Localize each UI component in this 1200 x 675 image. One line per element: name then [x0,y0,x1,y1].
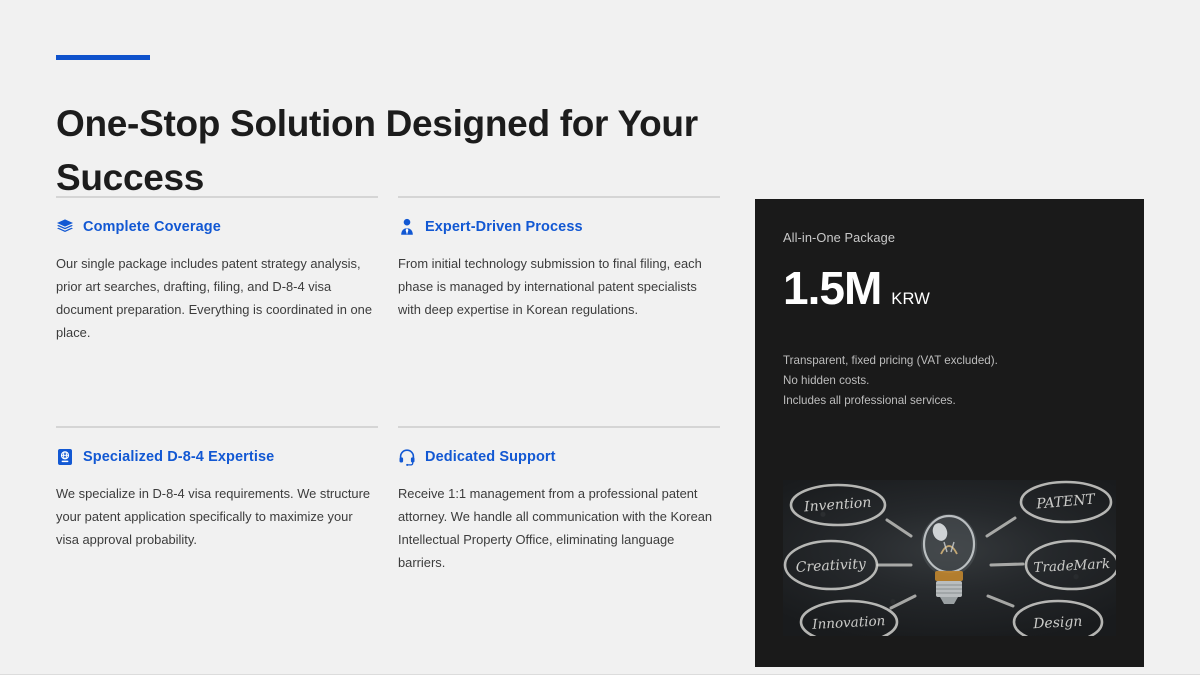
feature-description: From initial technology submission to fi… [398,252,720,321]
feature-card-dedicated-support: Dedicated Support Receive 1:1 management… [398,426,720,586]
lightbulb-graphic [921,514,977,604]
chalk-word-patent: PATENT [1035,491,1097,512]
feature-title: Expert-Driven Process [425,219,583,235]
feature-header: Complete Coverage [56,217,378,237]
price-note: Transparent, fixed pricing (VAT excluded… [783,351,1113,371]
feature-header: Expert-Driven Process [398,217,720,237]
chalk-word-creativity: Creativity [795,556,867,576]
price-currency: KRW [891,290,930,309]
price-note: Includes all professional services. [783,391,1113,411]
price-note: No hidden costs. [783,371,1113,391]
slide-canvas: One-Stop Solution Designed for Your Succ… [0,0,1200,675]
feature-grid: Complete Coverage Our single package inc… [56,196,720,586]
feature-title: Specialized D-8-4 Expertise [83,449,274,465]
pricing-panel: All-in-One Package 1.5M KRW Transparent,… [755,199,1144,667]
passport-icon [56,448,74,466]
chalk-word-trademark: TradeMark [1033,556,1110,576]
chalk-word-design: Design [1032,614,1083,633]
layers-icon [56,218,74,236]
feature-header: Specialized D-8-4 Expertise [56,447,378,467]
price-row: 1.5M KRW [783,265,930,311]
price-amount: 1.5M [783,265,881,311]
feature-title: Dedicated Support [425,449,556,465]
package-label: All-in-One Package [783,230,895,245]
user-tie-icon [398,218,416,236]
accent-bar [56,55,150,60]
feature-description: We specialize in D-8-4 visa requirements… [56,482,378,551]
feature-card-expert-driven-process: Expert-Driven Process From initial techn… [398,196,720,426]
headset-icon [398,448,416,466]
feature-description: Receive 1:1 management from a profession… [398,482,720,574]
feature-header: Dedicated Support [398,447,720,467]
feature-title: Complete Coverage [83,219,221,235]
chalk-word-invention: Invention [803,495,872,516]
feature-card-specialized-d-8-4-expertise: Specialized D-8-4 Expertise We specializ… [56,426,378,586]
page-title: One-Stop Solution Designed for Your Succ… [56,97,736,205]
feature-card-complete-coverage: Complete Coverage Our single package inc… [56,196,378,426]
chalk-word-innovation: Innovation [811,613,886,633]
price-notes: Transparent, fixed pricing (VAT excluded… [783,351,1113,411]
feature-description: Our single package includes patent strat… [56,252,378,344]
chalkboard-lightbulb-photo: Invention Creativity Innovation PATENT T… [783,480,1116,636]
